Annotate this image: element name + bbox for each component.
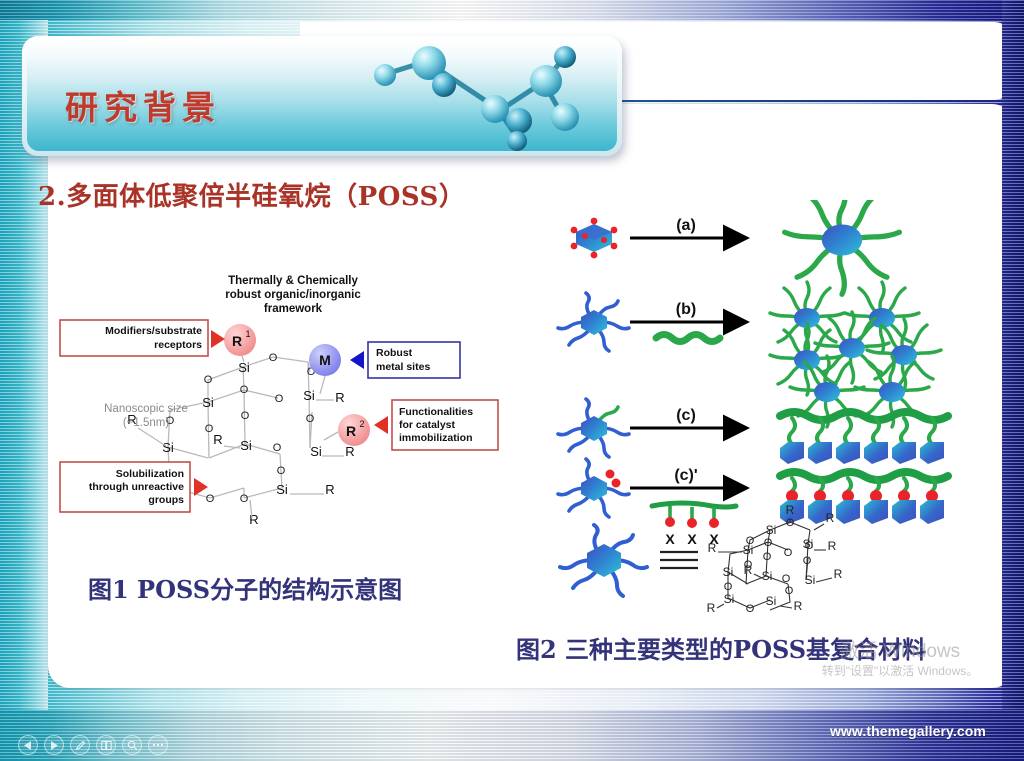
slide-navigator-button[interactable] <box>96 735 116 755</box>
svg-text:O: O <box>782 573 791 585</box>
footer-website-url: www.themegallery.com <box>830 723 986 739</box>
callout-functionalities: Functionalities for catalyst immobilizat… <box>374 400 498 450</box>
svg-text:R: R <box>708 541 717 555</box>
fig2-substrate-mark-2: X <box>687 531 697 547</box>
callout-modifiers: Modifiers/substrate receptors <box>60 320 225 356</box>
size-label-line-1: Nanoscopic size <box>104 403 188 415</box>
callout-arrow-icon <box>211 330 225 348</box>
nanoscopic-size-label: Nanoscopic size (~1.5nm) <box>104 403 188 429</box>
next-slide-button[interactable] <box>44 735 64 755</box>
callout-solub-line-3: groups <box>148 494 184 506</box>
slide-right-border-band <box>1002 0 1024 761</box>
pen-tool-button[interactable] <box>70 735 90 755</box>
previous-slide-button[interactable] <box>18 735 38 755</box>
framework-label-line-2: robust organic/inorganic <box>225 289 361 301</box>
svg-text:R: R <box>335 390 344 405</box>
figure-1-poss-structure: OO OO OO OO OO OO OO Si Si Si Si Si Si S… <box>58 262 503 537</box>
svg-text:R: R <box>744 563 753 577</box>
fig2-reaction-label-c-prime: (c)' <box>674 467 697 484</box>
size-label-line-2: (~1.5nm) <box>123 417 170 429</box>
molecule-decoration-icon <box>349 41 609 151</box>
callout-solub-line-1: Solubilization <box>116 468 184 480</box>
svg-text:O: O <box>240 493 249 505</box>
svg-text:Si: Si <box>743 543 754 557</box>
svg-text:O: O <box>306 413 315 425</box>
svg-text:O: O <box>763 551 772 563</box>
slideshow-controls[interactable] <box>18 735 168 755</box>
callout-modifiers-line-2: receptors <box>154 339 202 351</box>
svg-text:R: R <box>345 444 354 459</box>
fig2-legend: OO OO OO OO OO OO SiSi SiSi SiSi SiSi RR… <box>560 503 843 615</box>
svg-text:Si: Si <box>162 440 174 455</box>
callout-metal-sites: Robust metal sites <box>350 342 460 378</box>
svg-text:R: R <box>249 512 258 527</box>
figure-1-caption: 图1 POSS分子的结构示意图 <box>88 570 402 605</box>
framework-label-line-3: framework <box>264 303 323 315</box>
framework-label-line-1: Thermally & Chemically <box>228 275 358 287</box>
title-banner-inner: 研究背景 <box>27 41 617 151</box>
svg-text:O: O <box>204 374 213 386</box>
svg-text:M: M <box>319 352 331 368</box>
svg-text:Si: Si <box>723 565 734 579</box>
zoom-tool-button[interactable] <box>122 735 142 755</box>
fig2-reaction-label-a: (a) <box>676 217 696 234</box>
svg-text:O: O <box>803 555 812 567</box>
callout-solubilization: Solubilization through unreactive groups <box>60 462 208 512</box>
svg-text:R: R <box>213 432 222 447</box>
svg-text:Si: Si <box>805 573 816 587</box>
svg-text:O: O <box>785 585 794 597</box>
framework-label: Thermally & Chemically robust organic/in… <box>225 275 361 315</box>
svg-text:O: O <box>764 537 773 549</box>
svg-text:Si: Si <box>310 444 322 459</box>
svg-text:Si: Si <box>238 360 250 375</box>
svg-text:R: R <box>325 482 334 497</box>
callout-metal-line-2: metal sites <box>376 361 430 373</box>
svg-text:1: 1 <box>245 329 250 339</box>
svg-text:O: O <box>277 465 286 477</box>
svg-text:Si: Si <box>240 438 252 453</box>
figure-2-poss-composites: (a) (b) <box>552 200 952 620</box>
page-title: 研究背景 <box>65 81 221 129</box>
fig2-row-a: (a) <box>571 200 900 294</box>
svg-text:Si: Si <box>303 388 315 403</box>
svg-text:O: O <box>240 384 249 396</box>
svg-text:R: R <box>346 423 356 439</box>
figure-2-caption: 图2 三种主要类型的POSS基复合材料 <box>516 630 926 665</box>
presentation-slide: 研究背景 2.多面体低聚倍半硅氧烷（POSS） <box>0 0 1024 761</box>
callout-func-line-3: immobilization <box>399 432 473 444</box>
svg-text:Si: Si <box>803 537 814 551</box>
svg-text:O: O <box>275 393 284 405</box>
svg-text:O: O <box>206 493 215 505</box>
fig2-row-b: (b) <box>558 282 941 427</box>
svg-text:R: R <box>707 601 716 615</box>
svg-text:R: R <box>794 599 803 613</box>
callout-func-line-1: Functionalities <box>399 406 473 418</box>
fig2-row-c-prime: (c)' X X X <box>558 459 948 547</box>
svg-text:O: O <box>784 547 793 559</box>
svg-text:R: R <box>834 567 843 581</box>
callout-func-line-2: for catalyst <box>399 419 456 431</box>
svg-text:R: R <box>828 539 837 553</box>
callout-arrow-icon <box>350 351 364 369</box>
fig2-substrate-mark-1: X <box>665 531 675 547</box>
svg-text:2: 2 <box>359 419 364 429</box>
svg-text:O: O <box>746 603 755 615</box>
svg-text:Si: Si <box>724 592 735 606</box>
section-heading: 2.多面体低聚倍半硅氧烷（POSS） <box>38 176 465 213</box>
svg-text:O: O <box>269 352 278 364</box>
svg-text:Si: Si <box>762 569 773 583</box>
svg-text:Si: Si <box>766 594 777 608</box>
callout-modifiers-line-1: Modifiers/substrate <box>105 325 202 337</box>
more-options-button[interactable] <box>148 735 168 755</box>
fig2-reaction-label-b: (b) <box>676 301 696 318</box>
callout-arrow-icon <box>374 416 388 434</box>
svg-text:R: R <box>232 333 242 349</box>
svg-text:R: R <box>826 511 835 525</box>
title-banner: 研究背景 <box>22 36 622 156</box>
callout-solub-line-2: through unreactive <box>89 481 184 493</box>
svg-text:O: O <box>273 442 282 454</box>
svg-text:Si: Si <box>202 395 214 410</box>
svg-text:Si: Si <box>766 523 777 537</box>
slide-top-border-strip <box>0 0 1024 20</box>
fig2-reaction-label-c: (c) <box>676 407 696 424</box>
svg-text:Si: Si <box>276 482 288 497</box>
callout-metal-line-1: Robust <box>376 347 413 359</box>
svg-text:R: R <box>786 503 795 517</box>
svg-text:O: O <box>241 410 250 422</box>
